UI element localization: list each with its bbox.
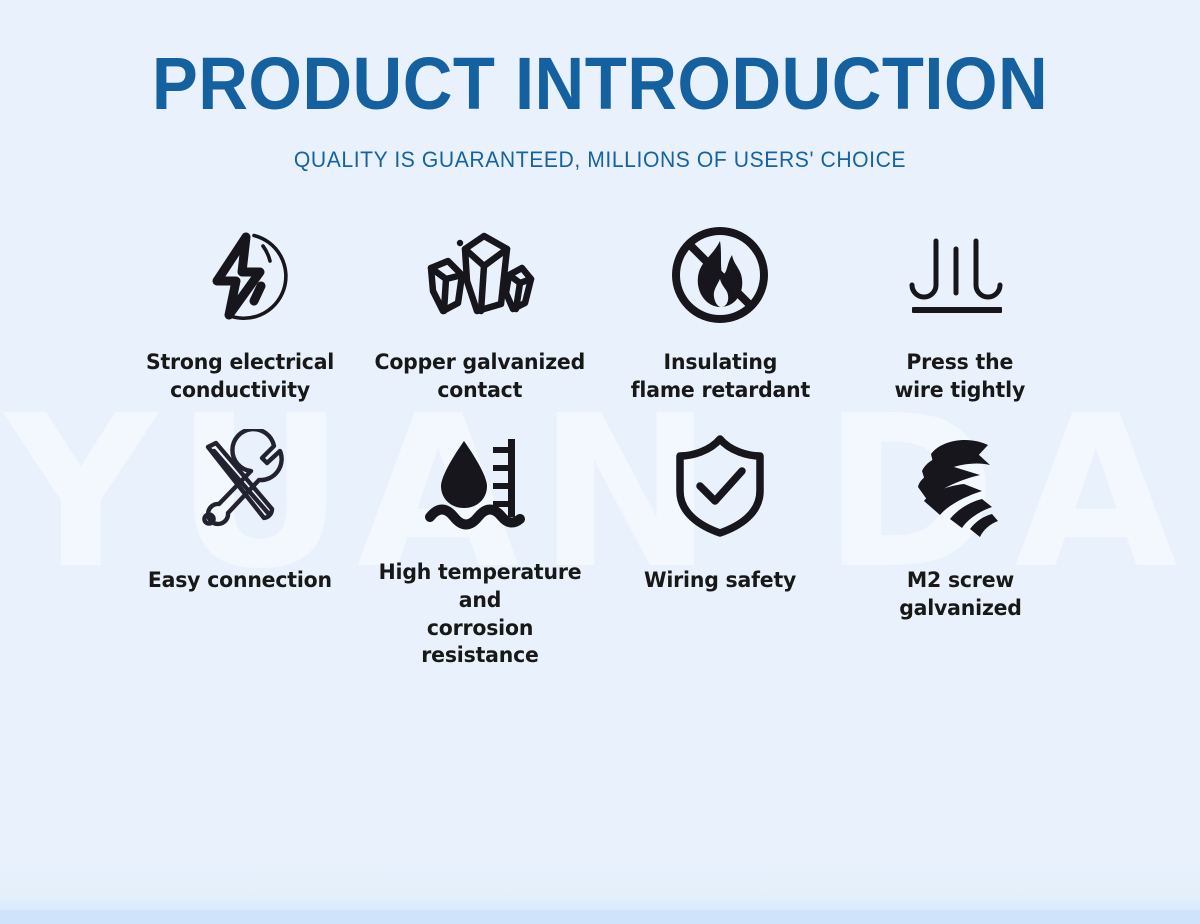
feature-caption: Copper galvanized contact <box>375 349 585 404</box>
feature-item: Strong electrical conductivity <box>120 215 360 425</box>
crystal-cluster-icon <box>421 215 539 335</box>
page-subtitle: QUALITY IS GUARANTEED, MILLIONS OF USERS… <box>24 147 1176 173</box>
page-title: PRODUCT INTRODUCTION <box>42 46 1158 121</box>
feature-caption: Press the wire tightly <box>895 349 1026 404</box>
feature-caption: Strong electrical conductivity <box>146 349 334 404</box>
product-introduction-banner: YUAN DA PRODUCT INTRODUCTION QUALITY IS … <box>0 0 1200 924</box>
feature-item: Copper galvanized contact <box>360 215 600 425</box>
wrench-screwdriver-icon <box>184 425 296 545</box>
feature-caption: Insulating flame retardant <box>630 349 809 404</box>
feature-item: Insulating flame retardant <box>600 215 840 425</box>
feature-grid: Strong electrical conductivity <box>0 215 1200 655</box>
feature-item: M2 screw galvanized <box>840 425 1080 655</box>
feature-item: Easy connection <box>120 425 360 655</box>
shield-check-icon <box>664 425 776 545</box>
feature-caption: High temperature and corrosion resistanc… <box>366 559 594 669</box>
feature-item: Wiring safety <box>600 425 840 655</box>
feature-caption: M2 screw galvanized <box>899 567 1022 622</box>
water-drop-thermometer-icon <box>424 425 536 537</box>
feature-item: High temperature and corrosion resistanc… <box>360 425 600 655</box>
screw-icon <box>904 425 1016 545</box>
bottom-strip <box>0 910 1200 924</box>
feature-caption: Easy connection <box>148 567 332 595</box>
no-fire-flame-icon <box>664 215 776 335</box>
wire-press-icon <box>904 215 1016 335</box>
feature-item: Press the wire tightly <box>840 215 1080 425</box>
header: PRODUCT INTRODUCTION QUALITY IS GUARANTE… <box>0 0 1200 173</box>
feature-caption: Wiring safety <box>644 567 796 595</box>
lightning-bolt-circle-icon <box>184 215 296 335</box>
